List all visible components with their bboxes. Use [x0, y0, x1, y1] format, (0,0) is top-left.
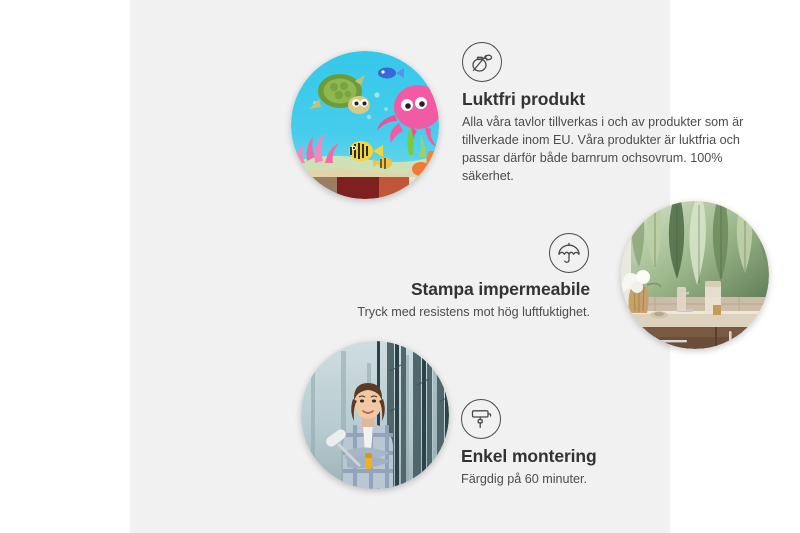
feature-title: Enkel montering	[461, 446, 711, 467]
feature-description: Alla våra tavlor tillverkas i och av pro…	[462, 114, 758, 186]
feature-odor-free: Luktfri produkt Alla våra tavlor tillver…	[462, 42, 758, 186]
content-panel: Luktfri produkt Alla våra tavlor tillver…	[130, 0, 670, 533]
no-perfume-spray-icon	[462, 42, 502, 82]
feature-title: Luktfri produkt	[462, 89, 758, 110]
umbrella-icon	[549, 233, 589, 273]
photo-bathroom-wallpaper	[621, 201, 769, 349]
feature-description: Färgdig på 60 minuter.	[461, 471, 711, 489]
photo-underwater-mural	[291, 51, 439, 199]
paint-roller-icon	[461, 399, 501, 439]
photo-forest-mural-installer	[301, 341, 449, 489]
feature-description: Tryck med resistens mot hög luftfuktighe…	[326, 304, 590, 322]
feature-easy-mounting: Enkel montering Färgdig på 60 minuter.	[461, 399, 711, 489]
feature-waterproof-print: Stampa impermeabile Tryck med resistens …	[326, 233, 590, 322]
promo-infographic: Luktfri produkt Alla våra tavlor tillver…	[0, 0, 800, 533]
feature-title: Stampa impermeabile	[326, 279, 590, 300]
